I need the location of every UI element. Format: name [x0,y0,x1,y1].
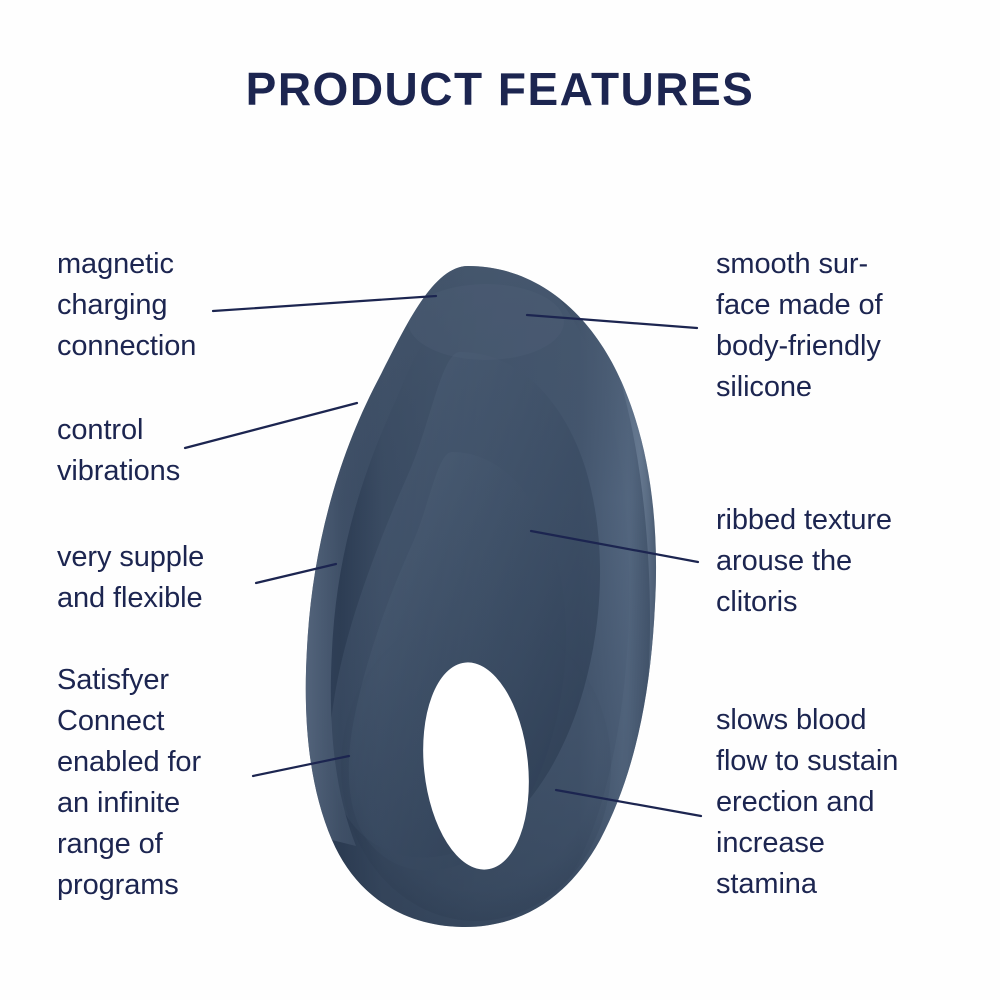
apex-highlight [408,284,564,360]
product-features-infographic: PRODUCT FEATURES [0,0,1000,1000]
feature-label-ribbed-texture: ribbed texture arouse the clitoris [716,500,966,623]
feature-label-very-supple: very supple and flexible [57,537,307,619]
feature-label-magnetic-charging: magnetic charging connection [57,244,307,367]
feature-label-control-vibrations: control vibrations [57,410,307,492]
feature-label-smooth-surface: smooth sur- face made of body-friendly s… [716,244,966,408]
feature-label-satisfyer-connect: Satisfyer Connect enabled for an infinit… [57,660,307,906]
feature-label-slows-blood-flow: slows blood flow to sustain erection and… [716,700,971,905]
